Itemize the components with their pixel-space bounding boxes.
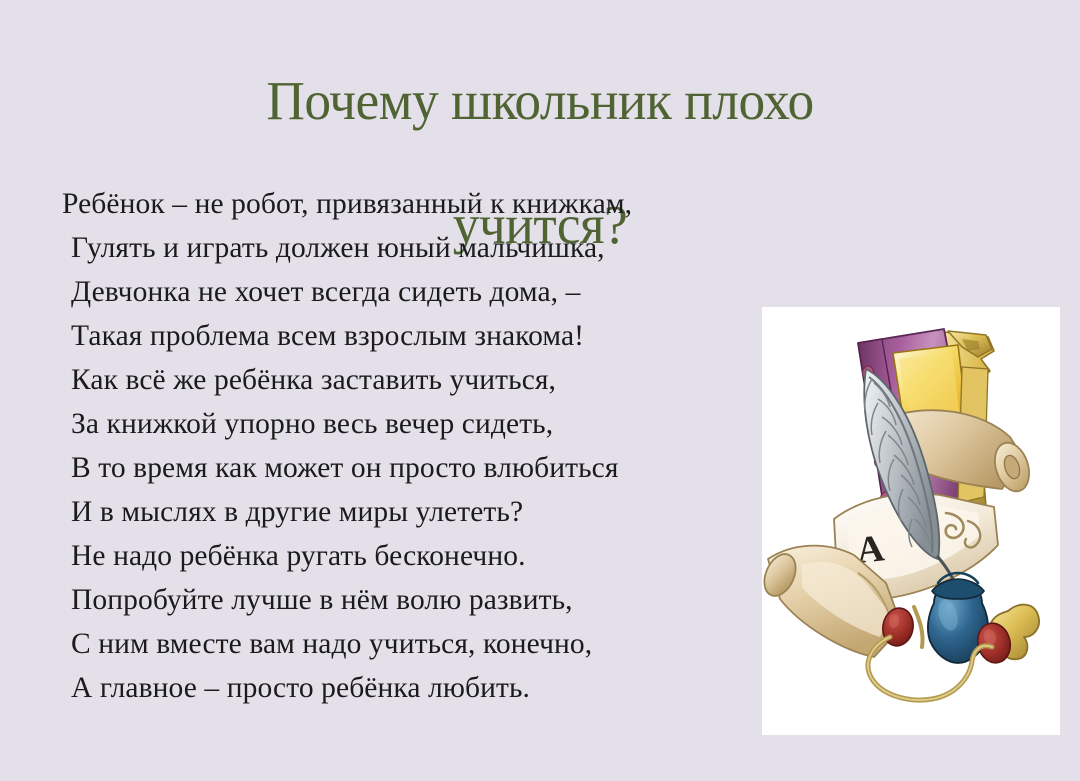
poem-line: Такая проблема всем взрослым знакома! <box>62 314 832 358</box>
poem-text: Ребёнок – не робот, привязанный к книжка… <box>62 182 832 710</box>
poem-line: Как всё же ребёнка заставить учиться, <box>62 358 832 402</box>
poem-line: Девчонка не хочет всегда сидеть дома, – <box>62 270 832 314</box>
book-scroll-quill-inkpot-icon: А <box>762 307 1060 735</box>
poem-line: Попробуйте лучше в нём волю развить, <box>62 578 832 622</box>
poem-line: В то время как может он просто влюбиться <box>62 446 832 490</box>
slide-canvas: Почему школьник плохо учится? Ребёнок – … <box>0 0 1080 781</box>
poem-line: А главное – просто ребёнка любить. <box>62 666 832 710</box>
page-title-line-1: Почему школьник плохо <box>16 70 1064 132</box>
illustration-image: А <box>762 307 1060 735</box>
poem-line: Гулять и играть должен юный мальчишка, <box>62 226 832 270</box>
poem-line: За книжкой упорно весь вечер сидеть, <box>62 402 832 446</box>
poem-line: Ребёнок – не робот, привязанный к книжка… <box>62 182 832 226</box>
poem-line: Не надо ребёнка ругать бесконечно. <box>62 534 832 578</box>
poem-line: И в мыслях в другие миры улететь? <box>62 490 832 534</box>
poem-line: С ним вместе вам надо учиться, конечно, <box>62 622 832 666</box>
